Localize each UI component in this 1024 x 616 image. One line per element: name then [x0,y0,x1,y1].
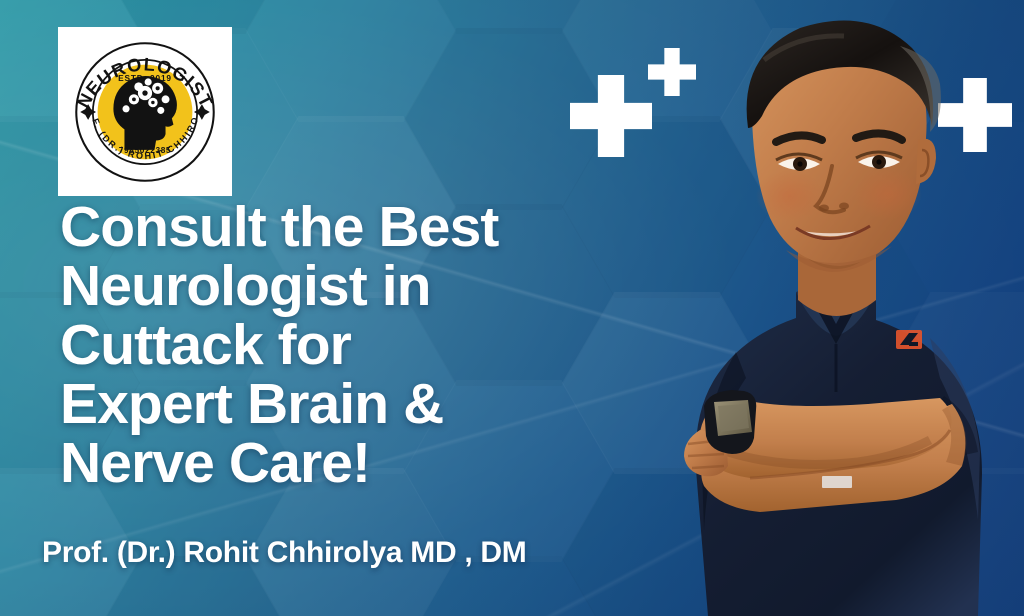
medical-cross-icon-small [648,48,696,96]
promo-banner: NEUROLOGIST PROF. (DR.) ROHIT CHHIROLYA … [0,0,1024,616]
headline-block: Consult the Best Neurologist in Cuttack … [60,198,660,493]
neurologist-seal-logo: NEUROLOGIST PROF. (DR.) ROHIT CHHIROLYA … [66,33,224,191]
page-title: Consult the Best Neurologist in Cuttack … [60,198,660,493]
medical-cross-icon-large [570,75,652,157]
clinic-logo-badge[interactable]: NEUROLOGIST PROF. (DR.) ROHIT CHHIROLYA … [58,27,232,196]
doctor-name-label: Prof. (Dr.) Rohit Chhirolya MD , DM [42,536,527,570]
medical-cross-icon-right [938,78,1012,152]
doctor-portrait-photo [600,0,1024,616]
